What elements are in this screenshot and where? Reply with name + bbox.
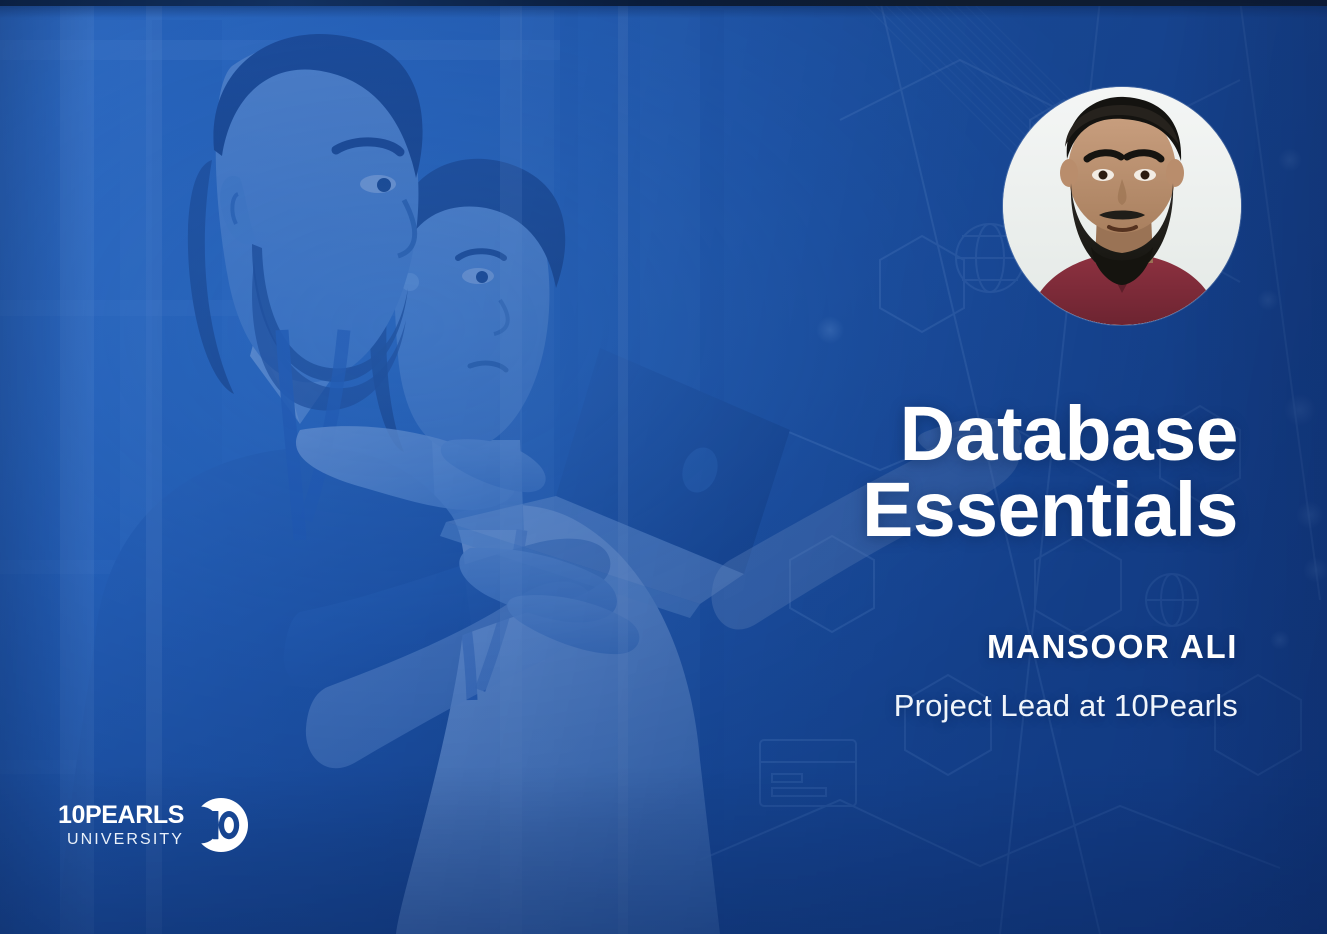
title-slide: Database Essentials MANSOOR ALI Project …	[0, 0, 1327, 934]
ten-monogram-icon	[194, 798, 248, 852]
top-edge-band	[0, 0, 1327, 6]
speaker-role: Project Lead at 10Pearls	[538, 688, 1238, 724]
brand-logo-wordmark: 10PEARLS UNIVERSITY	[58, 803, 184, 848]
speaker-name: MANSOOR ALI	[538, 628, 1238, 666]
brand-logo-primary-text: 10PEARLS	[58, 803, 184, 828]
brand-logo: 10PEARLS UNIVERSITY	[58, 798, 248, 852]
slide-title-line-1: Database	[900, 391, 1238, 477]
speaker-avatar	[1003, 87, 1241, 325]
slide-title-line-2: Essentials	[538, 472, 1238, 548]
slide-title: Database Essentials	[538, 396, 1238, 548]
brand-logo-secondary-text: UNIVERSITY	[58, 832, 184, 848]
